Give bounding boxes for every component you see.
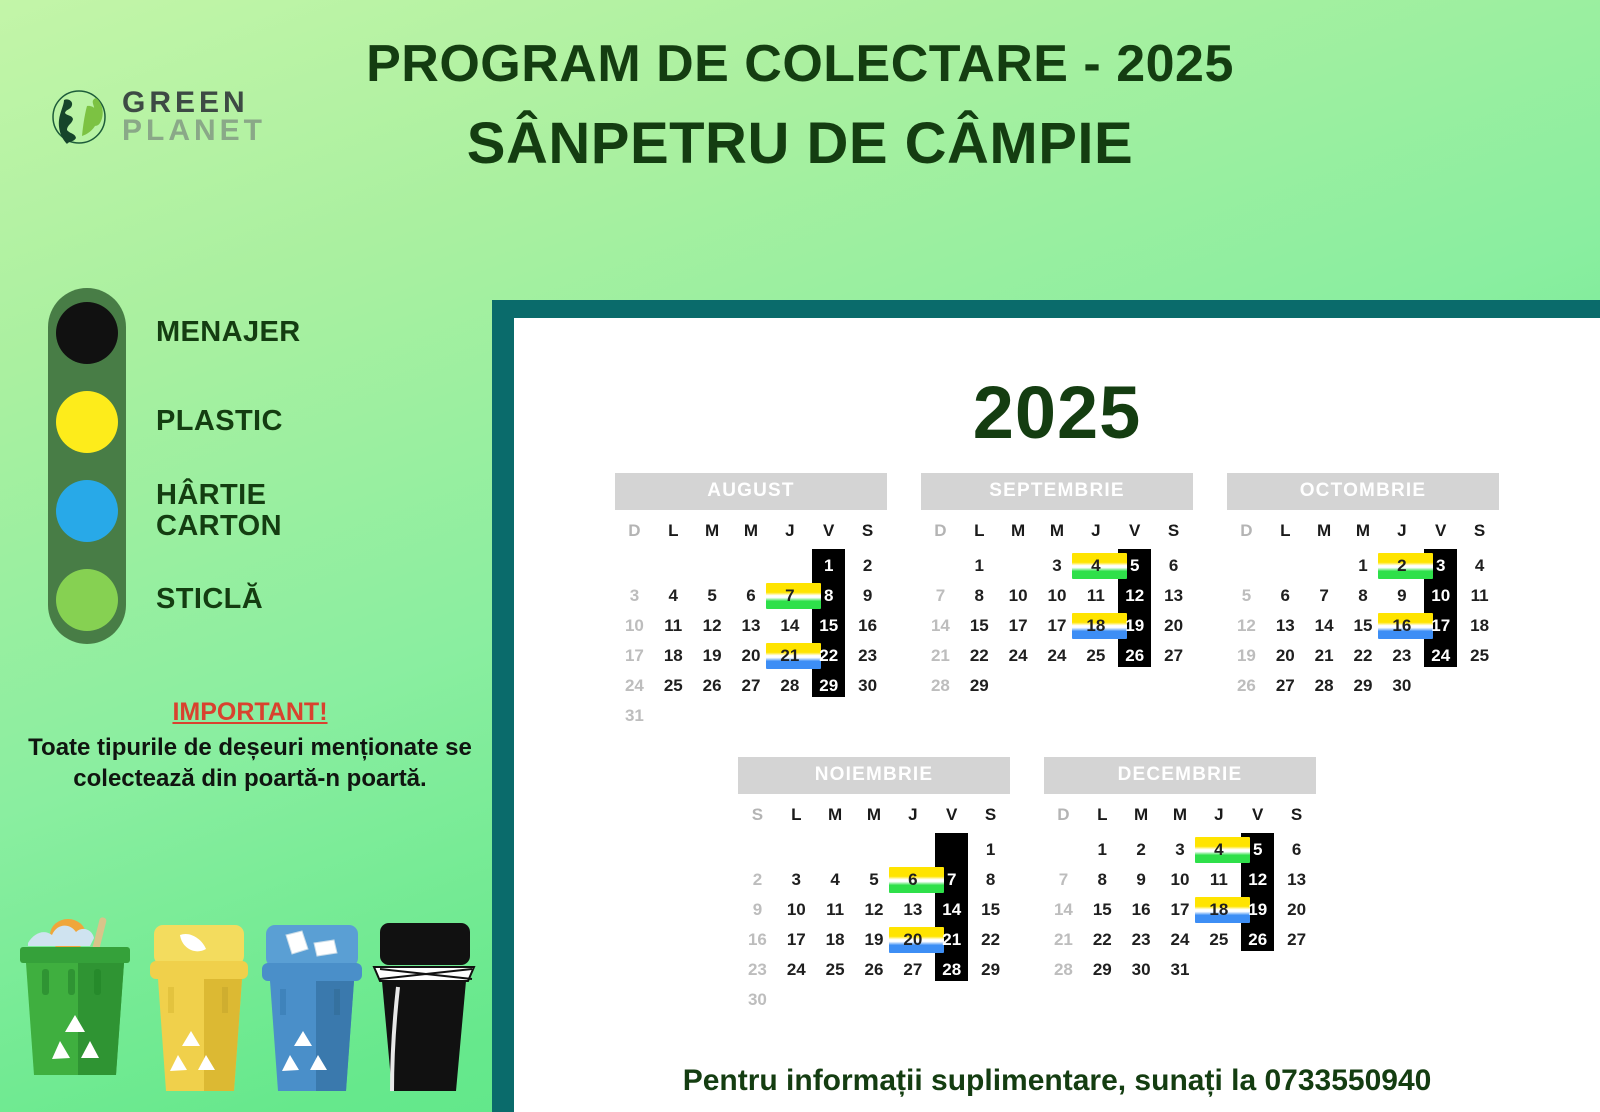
day-cell: 23 — [1122, 925, 1161, 955]
day-cell-empty — [770, 551, 809, 581]
day-cell: 4 — [1460, 551, 1499, 581]
day-cell: 12 — [1115, 581, 1154, 611]
day-cell: 16 — [1382, 611, 1421, 641]
day-cell: 18 — [1199, 895, 1238, 925]
day-of-week-header: J — [1199, 801, 1238, 835]
day-cell: 30 — [1122, 955, 1161, 985]
day-cell: 12 — [1227, 611, 1266, 641]
day-cell: 28 — [921, 671, 960, 701]
day-cell: 24 — [1421, 641, 1460, 671]
day-cell: 7 — [1044, 865, 1083, 895]
day-cell: 20 — [1266, 641, 1305, 671]
day-cell: 14 — [932, 895, 971, 925]
day-cell: 3 — [1161, 835, 1200, 865]
legend-label-sticla: STICLĂ — [156, 584, 263, 615]
day-of-week-header: S — [1277, 801, 1316, 835]
day-cell: 26 — [1227, 671, 1266, 701]
day-cell: 29 — [1344, 671, 1383, 701]
day-cell: 10 — [1161, 865, 1200, 895]
day-cell: 12 — [1238, 865, 1277, 895]
day-cell: 7 — [1305, 581, 1344, 611]
day-cell-empty — [855, 835, 894, 865]
day-cell-empty — [1076, 671, 1115, 701]
day-cell: 22 — [809, 641, 848, 671]
day-of-week-header: L — [1266, 517, 1305, 551]
calendar-row-1: AUGUSTDLMMJVS123456789101112131415161718… — [514, 473, 1600, 731]
day-cell-empty — [770, 701, 809, 731]
day-cell: 1 — [809, 551, 848, 581]
recycling-bins-illustration — [8, 895, 488, 1095]
month-grid: DLMMJVS123456789101112131415161718192021… — [1227, 517, 1499, 701]
day-cell: 13 — [1154, 581, 1193, 611]
day-of-week-header: M — [999, 517, 1038, 551]
day-cell: 2 — [848, 551, 887, 581]
day-cell: 7 — [932, 865, 971, 895]
day-cell: 19 — [855, 925, 894, 955]
day-of-week-header: M — [855, 801, 894, 835]
day-cell-empty — [1044, 835, 1083, 865]
day-cell: 31 — [615, 701, 654, 731]
month-grid: DLMMJVS123456789101112131415161718192021… — [1044, 801, 1316, 985]
day-cell: 16 — [738, 925, 777, 955]
day-cell: 23 — [1382, 641, 1421, 671]
day-cell-empty — [932, 985, 971, 1015]
day-cell-empty — [848, 701, 887, 731]
day-cell-empty — [732, 551, 771, 581]
day-cell-empty — [1421, 671, 1460, 701]
day-cell: 20 — [893, 925, 932, 955]
day-cell-empty — [1227, 551, 1266, 581]
day-cell: 29 — [1083, 955, 1122, 985]
contact-footer: Pentru informații suplimentare, sunați l… — [514, 1064, 1600, 1098]
legend-dot-menajer — [56, 302, 118, 364]
day-cell: 19 — [1227, 641, 1266, 671]
day-cell: 17 — [615, 641, 654, 671]
day-cell: 1 — [971, 835, 1010, 865]
day-cell: 25 — [1076, 641, 1115, 671]
day-cell: 3 — [777, 865, 816, 895]
day-cell: 17 — [1038, 611, 1077, 641]
day-cell: 6 — [1277, 835, 1316, 865]
important-notice: IMPORTANT! Toate tipurile de deșeuri men… — [10, 698, 490, 794]
day-cell-empty — [921, 551, 960, 581]
day-cell: 9 — [1382, 581, 1421, 611]
day-of-week-header: M — [1305, 517, 1344, 551]
important-heading: IMPORTANT! — [10, 698, 490, 727]
day-cell: 29 — [971, 955, 1010, 985]
day-cell: 26 — [693, 671, 732, 701]
day-cell: 26 — [855, 955, 894, 985]
title-main: PROGRAM DE COLECTARE - 2025 — [340, 34, 1260, 94]
logo-line-1: GREEN — [122, 89, 266, 117]
day-cell: 17 — [1161, 895, 1200, 925]
day-cell: 24 — [777, 955, 816, 985]
day-of-week-header: M — [816, 801, 855, 835]
day-cell: 10 — [777, 895, 816, 925]
month-grid: DLMMJVS134567810101112131415171718192021… — [921, 517, 1193, 701]
day-cell: 11 — [1460, 581, 1499, 611]
month-header: DECEMBRIE — [1044, 757, 1316, 794]
day-cell: 11 — [1199, 865, 1238, 895]
day-cell: 3 — [1038, 551, 1077, 581]
day-cell: 10 — [615, 611, 654, 641]
day-cell-empty — [738, 835, 777, 865]
day-cell: 14 — [770, 611, 809, 641]
day-cell: 29 — [960, 671, 999, 701]
month-noiembrie: NOIEMBRIESLMMJVS123456789101112131415161… — [738, 757, 1010, 1015]
day-cell: 27 — [893, 955, 932, 985]
day-cell: 21 — [1044, 925, 1083, 955]
day-cell-empty — [1277, 955, 1316, 985]
day-cell: 18 — [816, 925, 855, 955]
bin-green-mixed — [20, 917, 130, 1075]
day-cell: 14 — [1044, 895, 1083, 925]
month-grid: SLMMJVS123456789101112131415161718192021… — [738, 801, 1010, 1015]
day-cell: 25 — [1199, 925, 1238, 955]
calendar-year: 2025 — [514, 318, 1600, 455]
day-of-week-header: M — [1038, 517, 1077, 551]
day-cell: 7 — [921, 581, 960, 611]
day-cell: 4 — [1076, 551, 1115, 581]
day-cell: 15 — [960, 611, 999, 641]
day-cell: 28 — [770, 671, 809, 701]
day-cell: 22 — [971, 925, 1010, 955]
day-cell: 9 — [738, 895, 777, 925]
day-cell: 19 — [1115, 611, 1154, 641]
day-cell: 2 — [738, 865, 777, 895]
bin-black-household — [374, 923, 474, 1091]
day-cell: 17 — [777, 925, 816, 955]
day-cell-empty — [809, 701, 848, 731]
day-cell: 5 — [1227, 581, 1266, 611]
day-of-week-header: V — [1238, 801, 1277, 835]
title-locality: SÂNPETRU DE CÂMPIE — [340, 110, 1260, 177]
day-cell-empty — [777, 985, 816, 1015]
legend-label-menajer: MENAJER — [156, 317, 301, 348]
legend-item-plastic: PLASTIC — [48, 377, 301, 466]
legend-label-hartie-carton: HÂRTIE CARTON — [156, 480, 282, 541]
day-cell: 18 — [1076, 611, 1115, 641]
month-header: NOIEMBRIE — [738, 757, 1010, 794]
day-cell: 9 — [1122, 865, 1161, 895]
month-header: AUGUST — [615, 473, 887, 510]
legend-item-hartie-carton: HÂRTIE CARTON — [48, 466, 301, 555]
day-cell: 18 — [654, 641, 693, 671]
day-cell: 1 — [1083, 835, 1122, 865]
day-cell: 16 — [848, 611, 887, 641]
day-cell: 30 — [1382, 671, 1421, 701]
bin-yellow-plastic — [150, 925, 248, 1091]
day-of-week-header: S — [971, 801, 1010, 835]
legend-dot-hartie-carton — [56, 480, 118, 542]
day-cell-empty — [816, 835, 855, 865]
day-cell: 8 — [1083, 865, 1122, 895]
day-cell-empty — [1305, 551, 1344, 581]
day-cell: 27 — [1277, 925, 1316, 955]
day-of-week-header: J — [770, 517, 809, 551]
day-cell: 6 — [1266, 581, 1305, 611]
day-cell: 10 — [1038, 581, 1077, 611]
day-cell: 28 — [932, 955, 971, 985]
day-cell-empty — [1238, 955, 1277, 985]
day-of-week-header: L — [777, 801, 816, 835]
day-of-week-header: D — [615, 517, 654, 551]
day-cell: 17 — [999, 611, 1038, 641]
day-cell: 22 — [1344, 641, 1383, 671]
day-cell-empty — [777, 835, 816, 865]
day-cell: 24 — [999, 641, 1038, 671]
day-cell: 24 — [1161, 925, 1200, 955]
month-august: AUGUSTDLMMJVS123456789101112131415161718… — [615, 473, 887, 731]
day-cell: 6 — [1154, 551, 1193, 581]
day-cell: 22 — [1083, 925, 1122, 955]
day-cell: 4 — [816, 865, 855, 895]
day-cell-empty — [816, 985, 855, 1015]
day-of-week-header: S — [1154, 517, 1193, 551]
day-cell: 4 — [1199, 835, 1238, 865]
day-cell: 8 — [809, 581, 848, 611]
day-cell: 6 — [732, 581, 771, 611]
day-cell: 23 — [738, 955, 777, 985]
day-cell: 14 — [921, 611, 960, 641]
day-cell-empty — [1115, 671, 1154, 701]
day-cell: 22 — [960, 641, 999, 671]
day-cell-empty — [893, 985, 932, 1015]
day-cell: 15 — [971, 895, 1010, 925]
day-cell: 11 — [1076, 581, 1115, 611]
day-of-week-header: M — [1344, 517, 1383, 551]
day-cell: 9 — [848, 581, 887, 611]
day-cell-empty — [732, 701, 771, 731]
day-of-week-header: L — [960, 517, 999, 551]
day-of-week-header: S — [1460, 517, 1499, 551]
day-cell: 13 — [1266, 611, 1305, 641]
day-cell: 10 — [1421, 581, 1460, 611]
day-cell-empty — [693, 551, 732, 581]
day-cell: 2 — [1122, 835, 1161, 865]
day-of-week-header: J — [1076, 517, 1115, 551]
day-cell: 30 — [848, 671, 887, 701]
day-cell: 5 — [1238, 835, 1277, 865]
day-cell: 6 — [893, 865, 932, 895]
day-cell: 21 — [770, 641, 809, 671]
month-septembrie: SEPTEMBRIEDLMMJVS13456781010111213141517… — [921, 473, 1193, 731]
day-cell: 19 — [1238, 895, 1277, 925]
day-of-week-header: D — [1227, 517, 1266, 551]
day-cell-empty — [999, 551, 1038, 581]
day-of-week-header: V — [1421, 517, 1460, 551]
day-cell: 29 — [809, 671, 848, 701]
day-cell: 27 — [1266, 671, 1305, 701]
day-cell: 19 — [693, 641, 732, 671]
month-octombrie: OCTOMBRIEDLMMJVS123456789101112131415161… — [1227, 473, 1499, 731]
day-cell-empty — [1038, 671, 1077, 701]
day-of-week-header: S — [848, 517, 887, 551]
day-cell-empty — [654, 701, 693, 731]
day-cell: 13 — [732, 611, 771, 641]
waste-type-legend: MENAJER PLASTIC HÂRTIE CARTON STICLĂ — [48, 288, 301, 644]
day-cell: 31 — [1161, 955, 1200, 985]
day-cell: 26 — [1238, 925, 1277, 955]
day-cell: 20 — [1154, 611, 1193, 641]
day-cell-empty — [932, 835, 971, 865]
legend-label-plastic: PLASTIC — [156, 406, 283, 437]
day-cell: 27 — [732, 671, 771, 701]
day-cell: 4 — [654, 581, 693, 611]
day-cell-empty — [1199, 955, 1238, 985]
day-cell: 11 — [654, 611, 693, 641]
day-cell-empty — [1460, 671, 1499, 701]
day-of-week-header: J — [1382, 517, 1421, 551]
day-of-week-header: V — [932, 801, 971, 835]
day-cell: 8 — [971, 865, 1010, 895]
day-cell: 24 — [615, 671, 654, 701]
day-cell-empty — [893, 835, 932, 865]
day-of-week-header: S — [738, 801, 777, 835]
day-cell: 15 — [1344, 611, 1383, 641]
calendar-row-2: NOIEMBRIESLMMJVS123456789101112131415161… — [514, 757, 1600, 1015]
day-cell-empty — [615, 551, 654, 581]
day-cell: 18 — [1460, 611, 1499, 641]
day-cell: 13 — [1277, 865, 1316, 895]
logo-line-2: PLANET — [122, 117, 266, 145]
day-of-week-header: J — [893, 801, 932, 835]
legend-dot-sticla — [56, 569, 118, 631]
day-of-week-header: L — [654, 517, 693, 551]
day-cell: 5 — [1115, 551, 1154, 581]
day-cell: 15 — [809, 611, 848, 641]
calendar-panel: 2025 AUGUSTDLMMJVS1234567891011121314151… — [492, 300, 1600, 1112]
day-cell: 2 — [1382, 551, 1421, 581]
day-of-week-header: V — [809, 517, 848, 551]
day-cell-empty — [999, 671, 1038, 701]
bin-blue-paper — [262, 925, 362, 1091]
day-cell: 1 — [1344, 551, 1383, 581]
legend-dot-plastic — [56, 391, 118, 453]
day-cell: 28 — [1305, 671, 1344, 701]
day-cell: 13 — [893, 895, 932, 925]
globe-leaf-icon — [50, 86, 112, 148]
day-cell-empty — [654, 551, 693, 581]
day-of-week-header: M — [1122, 801, 1161, 835]
day-cell: 25 — [816, 955, 855, 985]
day-cell: 15 — [1083, 895, 1122, 925]
day-cell: 25 — [654, 671, 693, 701]
day-cell: 12 — [855, 895, 894, 925]
day-cell: 24 — [1038, 641, 1077, 671]
day-of-week-header: D — [921, 517, 960, 551]
day-cell: 27 — [1154, 641, 1193, 671]
day-cell: 28 — [1044, 955, 1083, 985]
day-cell: 17 — [1421, 611, 1460, 641]
day-cell: 3 — [1421, 551, 1460, 581]
day-cell-empty — [1154, 671, 1193, 701]
legend-item-menajer: MENAJER — [48, 288, 301, 377]
month-header: OCTOMBRIE — [1227, 473, 1499, 510]
day-cell: 1 — [960, 551, 999, 581]
day-cell: 30 — [738, 985, 777, 1015]
day-cell: 21 — [921, 641, 960, 671]
day-of-week-header: V — [1115, 517, 1154, 551]
day-cell-empty — [971, 985, 1010, 1015]
day-cell: 26 — [1115, 641, 1154, 671]
day-cell: 20 — [732, 641, 771, 671]
day-of-week-header: M — [1161, 801, 1200, 835]
day-cell: 21 — [932, 925, 971, 955]
day-cell-empty — [693, 701, 732, 731]
legend-item-sticla: STICLĂ — [48, 555, 301, 644]
month-header: SEPTEMBRIE — [921, 473, 1193, 510]
day-cell: 5 — [693, 581, 732, 611]
day-cell: 5 — [855, 865, 894, 895]
day-cell: 7 — [770, 581, 809, 611]
day-cell: 23 — [848, 641, 887, 671]
day-of-week-header: M — [693, 517, 732, 551]
day-cell: 16 — [1122, 895, 1161, 925]
brand-logo: GREEN PLANET — [50, 86, 266, 148]
day-cell: 12 — [693, 611, 732, 641]
page-title: PROGRAM DE COLECTARE - 2025 SÂNPETRU DE … — [340, 34, 1260, 177]
day-cell: 3 — [615, 581, 654, 611]
day-cell: 10 — [999, 581, 1038, 611]
day-cell-empty — [855, 985, 894, 1015]
day-cell: 8 — [1344, 581, 1383, 611]
day-cell-empty — [1266, 551, 1305, 581]
day-cell: 21 — [1305, 641, 1344, 671]
day-of-week-header: M — [732, 517, 771, 551]
important-body: Toate tipurile de deșeuri menționate se … — [10, 733, 490, 794]
day-cell: 14 — [1305, 611, 1344, 641]
day-of-week-header: L — [1083, 801, 1122, 835]
day-cell: 20 — [1277, 895, 1316, 925]
day-cell: 25 — [1460, 641, 1499, 671]
day-of-week-header: D — [1044, 801, 1083, 835]
day-cell: 8 — [960, 581, 999, 611]
day-cell: 11 — [816, 895, 855, 925]
month-decembrie: DECEMBRIEDLMMJVS123456789101112131415161… — [1044, 757, 1316, 1015]
month-grid: DLMMJVS123456789101112131415161718192021… — [615, 517, 887, 731]
